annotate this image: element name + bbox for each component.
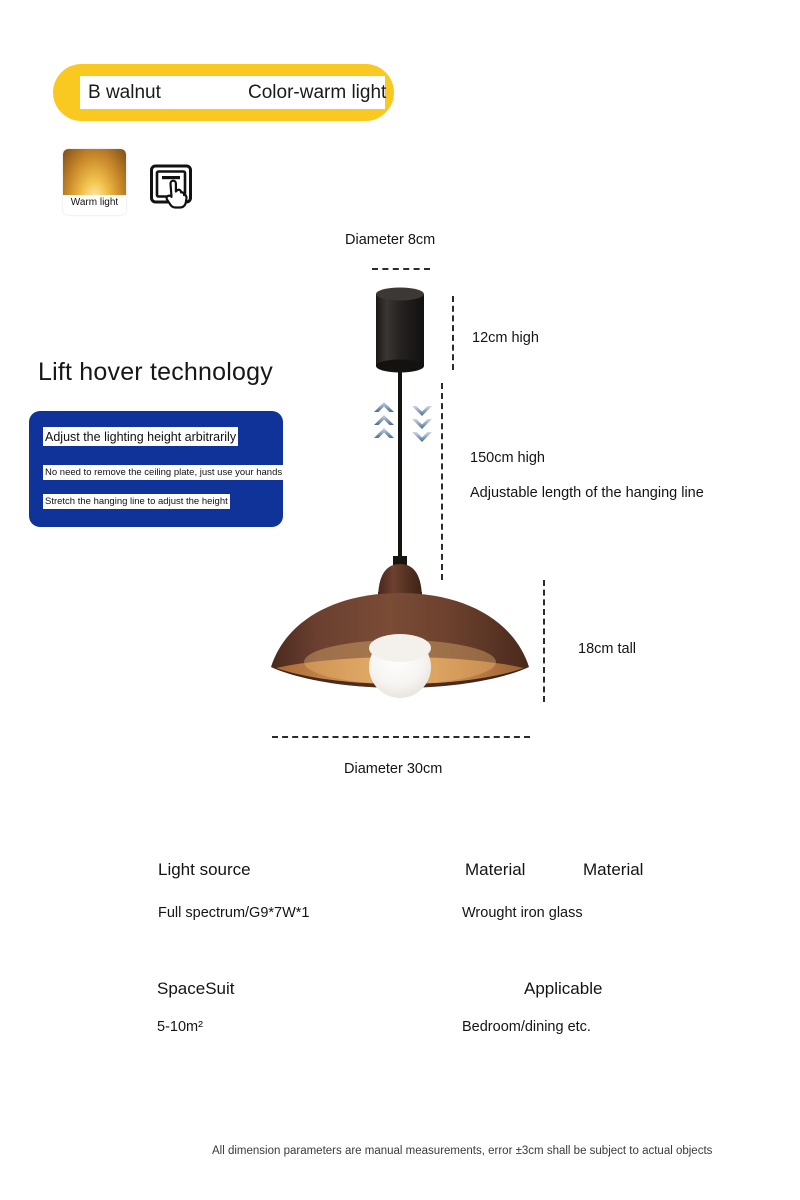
variant-name: B walnut: [88, 82, 161, 104]
warm-light-swatch[interactable]: Warm light: [63, 149, 126, 215]
feature-line-3: Stretch the hanging line to adjust the h…: [43, 494, 230, 509]
canopy-height-guide: [452, 296, 454, 370]
warm-light-label: Warm light: [63, 197, 126, 208]
feature-line-2: No need to remove the ceiling plate, jus…: [43, 465, 284, 480]
spec-key-applicable: Applicable: [524, 979, 602, 999]
shade-diameter-guide: [272, 736, 530, 738]
shade-height-guide: [543, 580, 545, 702]
canopy-diameter-guide: [372, 268, 430, 270]
cord-length-label: 150cm high: [470, 450, 545, 466]
spec-key-material: Material: [465, 860, 525, 880]
chevron-up-group: [374, 402, 394, 438]
cord-length-guide: [441, 383, 443, 580]
spec-value-material: Wrought iron glass: [462, 905, 583, 921]
hanging-cord: [398, 370, 402, 568]
spec-value-space: 5-10m²: [157, 1019, 203, 1035]
lamp-neck: [378, 556, 422, 608]
wall-switch-hand-icon[interactable]: [149, 163, 193, 213]
warm-light-gradient-tile: [63, 149, 126, 195]
disclaimer-text: All dimension parameters are manual meas…: [212, 1145, 712, 1157]
spec-key-light-source: Light source: [158, 860, 251, 880]
chevron-down-group: [412, 406, 432, 442]
shade-diameter-label: Diameter 30cm: [344, 761, 442, 777]
globe-bulb: [369, 634, 431, 698]
variant-label-strip: B walnut Color-warm light: [80, 76, 385, 109]
canopy-diameter-label: Diameter 8cm: [345, 232, 435, 248]
spec-key-space: SpaceSuit: [157, 979, 235, 999]
spec-value-applicable: Bedroom/dining etc.: [462, 1019, 591, 1035]
cord-adjustable-note: Adjustable length of the hanging line: [470, 485, 704, 501]
ceiling-canopy: [376, 288, 424, 373]
variant-color-option: Color-warm light: [248, 82, 386, 104]
spec-value-light-source: Full spectrum/G9*7W*1: [158, 905, 310, 921]
canopy-height-label: 12cm high: [472, 330, 539, 346]
shade-height-label: 18cm tall: [578, 641, 636, 657]
feature-line-1: Adjust the lighting height arbitrarily: [43, 427, 238, 446]
spec-key-material-alt: Material: [583, 860, 643, 880]
feature-title: Lift hover technology: [38, 358, 273, 387]
lamp-shade: [271, 593, 529, 688]
product-infographic: B walnut Color-warm light Warm light Lif…: [0, 0, 800, 1200]
